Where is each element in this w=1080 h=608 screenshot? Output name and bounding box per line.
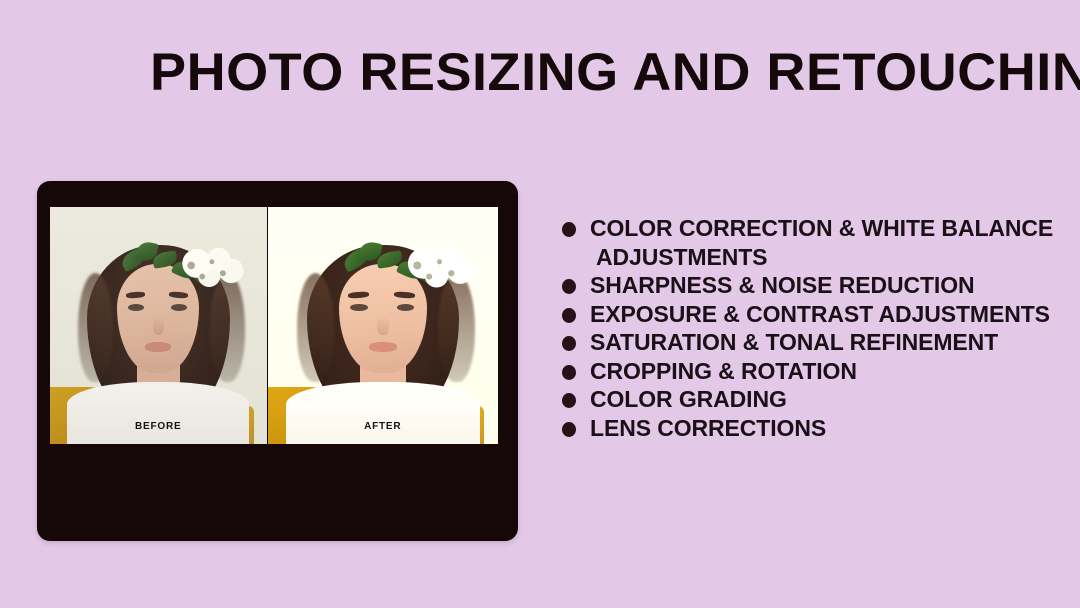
bullet-dot-icon [562, 393, 576, 408]
portrait-image-after [268, 207, 498, 444]
list-item-label: SHARPNESS & NOISE REDUCTION [590, 272, 975, 298]
before-after-frame: BEFORE [37, 181, 518, 541]
list-item-label: SATURATION & TONAL REFINEMENT [590, 329, 998, 355]
list-item-label-continued: ADJUSTMENTS [590, 243, 1080, 272]
bullet-dot-icon [562, 365, 576, 380]
before-label: BEFORE [50, 421, 267, 432]
flower-centers [176, 247, 245, 287]
hair-wisp-left [78, 273, 113, 382]
bullet-dot-icon [562, 222, 576, 237]
flower-centers [401, 247, 475, 287]
lips [369, 342, 397, 351]
nose [153, 316, 164, 335]
list-item-label: COLOR CORRECTION & WHITE BALANCE [590, 215, 1053, 241]
list-item: LENS CORRECTIONS [560, 414, 1080, 443]
page-title: PHOTO RESIZING AND RETOUCHING [150, 40, 1080, 106]
hair-wisp-right [210, 273, 245, 382]
list-item: SATURATION & TONAL REFINEMENT [560, 328, 1080, 357]
photo-after: AFTER [268, 207, 498, 444]
after-label: AFTER [268, 421, 498, 432]
list-item-label: EXPOSURE & CONTRAST ADJUSTMENTS [590, 301, 1050, 327]
list-item: EXPOSURE & CONTRAST ADJUSTMENTS [560, 300, 1080, 329]
slide-canvas: PHOTO RESIZING AND RETOUCHING [0, 0, 1080, 608]
nose [377, 316, 389, 335]
list-item-label: COLOR GRADING [590, 386, 787, 412]
white-flowers [401, 247, 475, 287]
bullet-dot-icon [562, 308, 576, 323]
list-item: CROPPING & ROTATION [560, 357, 1080, 386]
list-item-label: LENS CORRECTIONS [590, 415, 826, 441]
list-item-label: CROPPING & ROTATION [590, 358, 857, 384]
white-shirt [286, 382, 480, 444]
bullet-dot-icon [562, 336, 576, 351]
list-item: COLOR CORRECTION & WHITE BALANCE ADJUSTM… [560, 214, 1080, 271]
hair-wisp-left [297, 273, 334, 382]
lips [145, 342, 171, 351]
photo-before: BEFORE [50, 207, 267, 444]
hair-wisp-right [438, 273, 475, 382]
photo-strip: BEFORE [50, 207, 498, 444]
white-flowers [176, 247, 245, 287]
bullet-dot-icon [562, 279, 576, 294]
list-item: COLOR GRADING [560, 385, 1080, 414]
list-item: SHARPNESS & NOISE REDUCTION [560, 271, 1080, 300]
white-shirt [67, 382, 249, 444]
bullet-dot-icon [562, 422, 576, 437]
portrait-image-before [50, 207, 267, 444]
services-list: COLOR CORRECTION & WHITE BALANCE ADJUSTM… [560, 214, 1080, 442]
